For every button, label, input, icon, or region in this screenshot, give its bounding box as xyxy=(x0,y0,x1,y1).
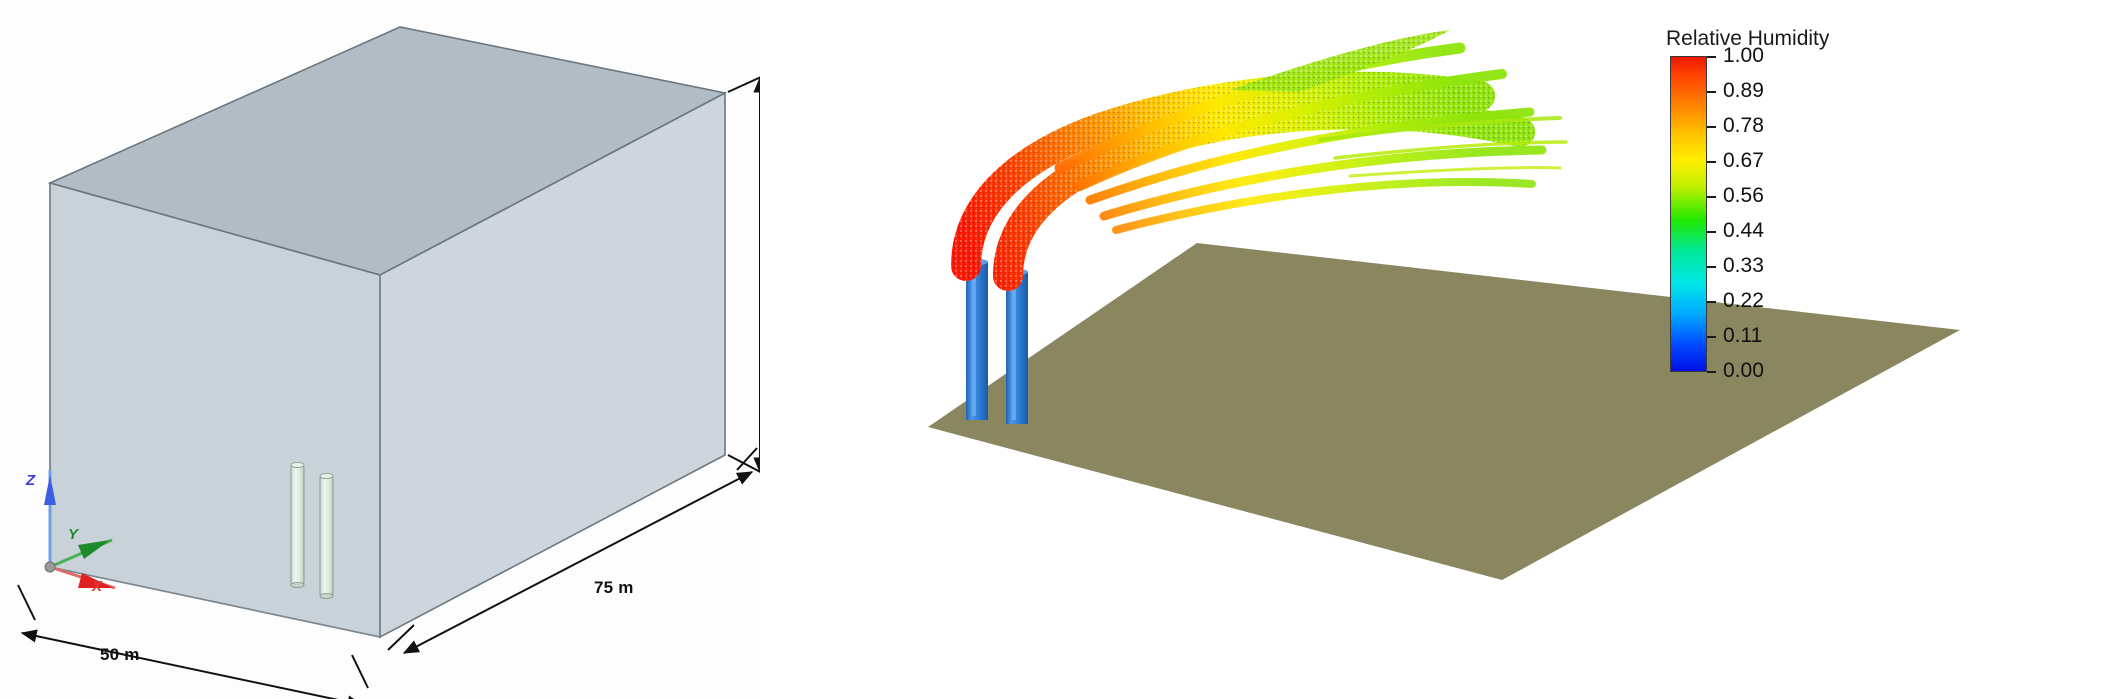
figure-root: 50 m 75 m 50 m Z Y X xyxy=(0,0,2115,699)
plume-filament-5 xyxy=(1116,182,1532,230)
colorbar-tick-label: 0.33 xyxy=(1723,254,1764,278)
dimension-label-depth: 75 m xyxy=(594,578,634,598)
domain-stack-1 xyxy=(291,462,304,587)
colorbar-tick-mark xyxy=(1707,91,1716,93)
dimension-label-width: 50 m xyxy=(100,645,140,665)
colorbar-tick-mark xyxy=(1707,371,1716,373)
colorbar-tick-mark xyxy=(1707,231,1716,233)
axis-label-y: Y xyxy=(68,526,78,543)
plume-scene-svg xyxy=(760,0,2115,699)
axis-label-x: X xyxy=(92,578,102,595)
colorbar-tick-label: 0.44 xyxy=(1723,219,1764,243)
colorbar-tick-mark xyxy=(1707,161,1716,163)
plume-stack-1 xyxy=(966,259,988,420)
colorbar-tick-mark xyxy=(1707,56,1716,58)
colorbar-tick-label: 0.00 xyxy=(1723,359,1764,383)
domain-schematic-svg xyxy=(0,0,760,699)
colorbar-tick-label: 0.22 xyxy=(1723,289,1764,313)
colorbar-tick-mark xyxy=(1707,336,1716,338)
colorbar-gradient xyxy=(1670,56,1707,372)
domain-box xyxy=(50,27,725,637)
colorbar-tick-mark xyxy=(1707,301,1716,303)
colorbar-tick-mark xyxy=(1707,196,1716,198)
colorbar-tick-mark xyxy=(1707,266,1716,268)
colorbar-tick-label: 0.67 xyxy=(1723,149,1764,173)
colorbar-tick-mark xyxy=(1707,126,1716,128)
colorbar-tick-label: 1.00 xyxy=(1723,44,1764,68)
colorbar-legend: Relative Humidity 1.00 0.89 0.78 0.67 0.… xyxy=(1670,27,1880,372)
domain-stack-2 xyxy=(320,473,333,598)
computational-domain-panel: 50 m 75 m 50 m Z Y X xyxy=(0,0,760,699)
plume-body xyxy=(966,30,1566,276)
colorbar-tick-label: 0.56 xyxy=(1723,184,1764,208)
axis-origin xyxy=(45,562,55,572)
colorbar-tick-label: 0.89 xyxy=(1723,79,1764,103)
plume-streak-3 xyxy=(1350,167,1560,176)
dimension-height xyxy=(728,72,760,478)
colorbar-tick-label: 0.78 xyxy=(1723,114,1764,138)
plume-stack-2 xyxy=(1006,269,1028,424)
plume-result-panel: Relative Humidity 1.00 0.89 0.78 0.67 0.… xyxy=(760,0,2115,699)
colorbar-tick-label: 0.11 xyxy=(1723,324,1762,348)
axis-label-z: Z xyxy=(26,472,35,489)
